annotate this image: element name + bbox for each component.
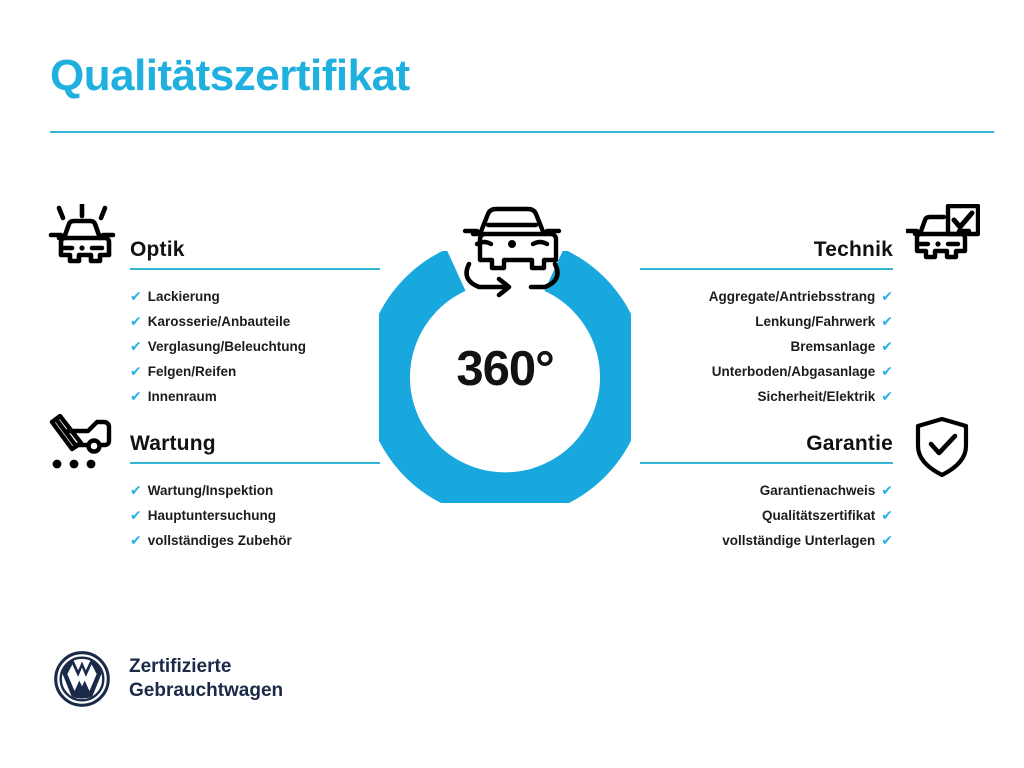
list-item: ✔Innenraum xyxy=(130,384,380,409)
section-technik: Technik Aggregate/Antriebsstrang✔ Lenkun… xyxy=(640,238,893,409)
badge-degrees: 360° xyxy=(379,341,631,397)
list-item-label: Verglasung/Beleuchtung xyxy=(148,339,306,354)
logo-wordmark: Zertifizierte Gebrauchtwagen xyxy=(129,655,283,704)
check-icon: ✔ xyxy=(881,482,893,498)
check-icon: ✔ xyxy=(881,338,893,354)
section-heading-garantie: Garantie xyxy=(640,432,893,455)
section-heading-optik: Optik xyxy=(130,238,380,261)
list-item-label: Karosserie/Anbauteile xyxy=(148,314,291,329)
list-item-label: Bremsanlage xyxy=(790,339,875,354)
check-icon: ✔ xyxy=(130,482,142,498)
list-item-label: Innenraum xyxy=(148,389,217,404)
list-item-label: Felgen/Reifen xyxy=(148,364,237,379)
list-item-label: Sicherheit/Elektrik xyxy=(757,389,875,404)
checklist-optik: ✔Lackierung ✔Karosserie/Anbauteile ✔Verg… xyxy=(130,284,380,409)
list-item-label: Aggregate/Antriebsstrang xyxy=(709,289,876,304)
car-shine-icon xyxy=(46,204,118,271)
checklist-wartung: ✔Wartung/Inspektion ✔Hauptuntersuchung ✔… xyxy=(130,478,380,553)
section-heading-wartung: Wartung xyxy=(130,432,380,455)
volkswagen-logo-lockup: Zertifizierte Gebrauchtwagen xyxy=(53,650,283,708)
list-item-label: Lenkung/Fahrwerk xyxy=(755,314,875,329)
logo-line-1: Zertifizierte xyxy=(129,655,283,679)
list-item-label: Unterboden/Abgasanlage xyxy=(712,364,876,379)
list-item: ✔Hauptuntersuchung xyxy=(130,503,380,528)
list-item: Aggregate/Antriebsstrang✔ xyxy=(640,284,893,309)
list-item-label: Qualitätszertifikat xyxy=(762,508,875,523)
list-item: Lenkung/Fahrwerk✔ xyxy=(640,309,893,334)
list-item: Unterboden/Abgasanlage✔ xyxy=(640,359,893,384)
list-item: vollständige Unterlagen✔ xyxy=(640,528,893,553)
page-title: Qualitätszertifikat xyxy=(50,52,410,100)
shield-check-icon xyxy=(914,416,970,483)
certificate-page: Qualitätszertifikat xyxy=(0,0,1024,768)
section-divider-wartung xyxy=(130,462,380,464)
checklist-garantie: Garantienachweis✔ Qualitätszertifikat✔ v… xyxy=(640,478,893,553)
check-icon: ✔ xyxy=(130,338,142,354)
section-divider-technik xyxy=(640,268,893,270)
list-item-label: vollständige Unterlagen xyxy=(722,533,875,548)
list-item-label: Lackierung xyxy=(148,289,220,304)
check-icon: ✔ xyxy=(130,288,142,304)
section-divider-garantie xyxy=(640,462,893,464)
checklist-technik: Aggregate/Antriebsstrang✔ Lenkung/Fahrwe… xyxy=(640,284,893,409)
list-item: ✔Karosserie/Anbauteile xyxy=(130,309,380,334)
check-icon: ✔ xyxy=(130,532,142,548)
check-icon: ✔ xyxy=(881,313,893,329)
list-item: ✔vollständiges Zubehör xyxy=(130,528,380,553)
check-icon: ✔ xyxy=(130,363,142,379)
list-item: ✔Wartung/Inspektion xyxy=(130,478,380,503)
list-item-label: Hauptuntersuchung xyxy=(148,508,276,523)
list-item: ✔Lackierung xyxy=(130,284,380,309)
check-icon: ✔ xyxy=(881,532,893,548)
car-rotate-icon xyxy=(447,197,577,302)
pencil-car-service-icon xyxy=(46,414,118,477)
car-checkbox-icon xyxy=(906,204,980,271)
title-divider xyxy=(50,131,994,133)
section-heading-technik: Technik xyxy=(640,238,893,261)
section-garantie: Garantie Garantienachweis✔ Qualitätszert… xyxy=(640,432,893,553)
list-item-label: Wartung/Inspektion xyxy=(148,483,274,498)
check-icon: ✔ xyxy=(130,507,142,523)
volkswagen-logo xyxy=(53,650,111,708)
list-item: Qualitätszertifikat✔ xyxy=(640,503,893,528)
check-icon: ✔ xyxy=(881,363,893,379)
list-item: ✔Felgen/Reifen xyxy=(130,359,380,384)
section-wartung: Wartung ✔Wartung/Inspektion ✔Hauptunters… xyxy=(130,432,380,553)
check-icon: ✔ xyxy=(130,313,142,329)
check-icon: ✔ xyxy=(881,388,893,404)
list-item: Garantienachweis✔ xyxy=(640,478,893,503)
list-item: ✔Verglasung/Beleuchtung xyxy=(130,334,380,359)
section-divider-optik xyxy=(130,268,380,270)
check-icon: ✔ xyxy=(130,388,142,404)
check-icon: ✔ xyxy=(881,288,893,304)
list-item-label: vollständiges Zubehör xyxy=(148,533,292,548)
check-icon: ✔ xyxy=(881,507,893,523)
list-item: Bremsanlage✔ xyxy=(640,334,893,359)
section-optik: Optik ✔Lackierung ✔Karosserie/Anbauteile… xyxy=(130,238,380,409)
list-item-label: Garantienachweis xyxy=(760,483,876,498)
logo-line-2: Gebrauchtwagen xyxy=(129,679,283,703)
list-item: Sicherheit/Elektrik✔ xyxy=(640,384,893,409)
